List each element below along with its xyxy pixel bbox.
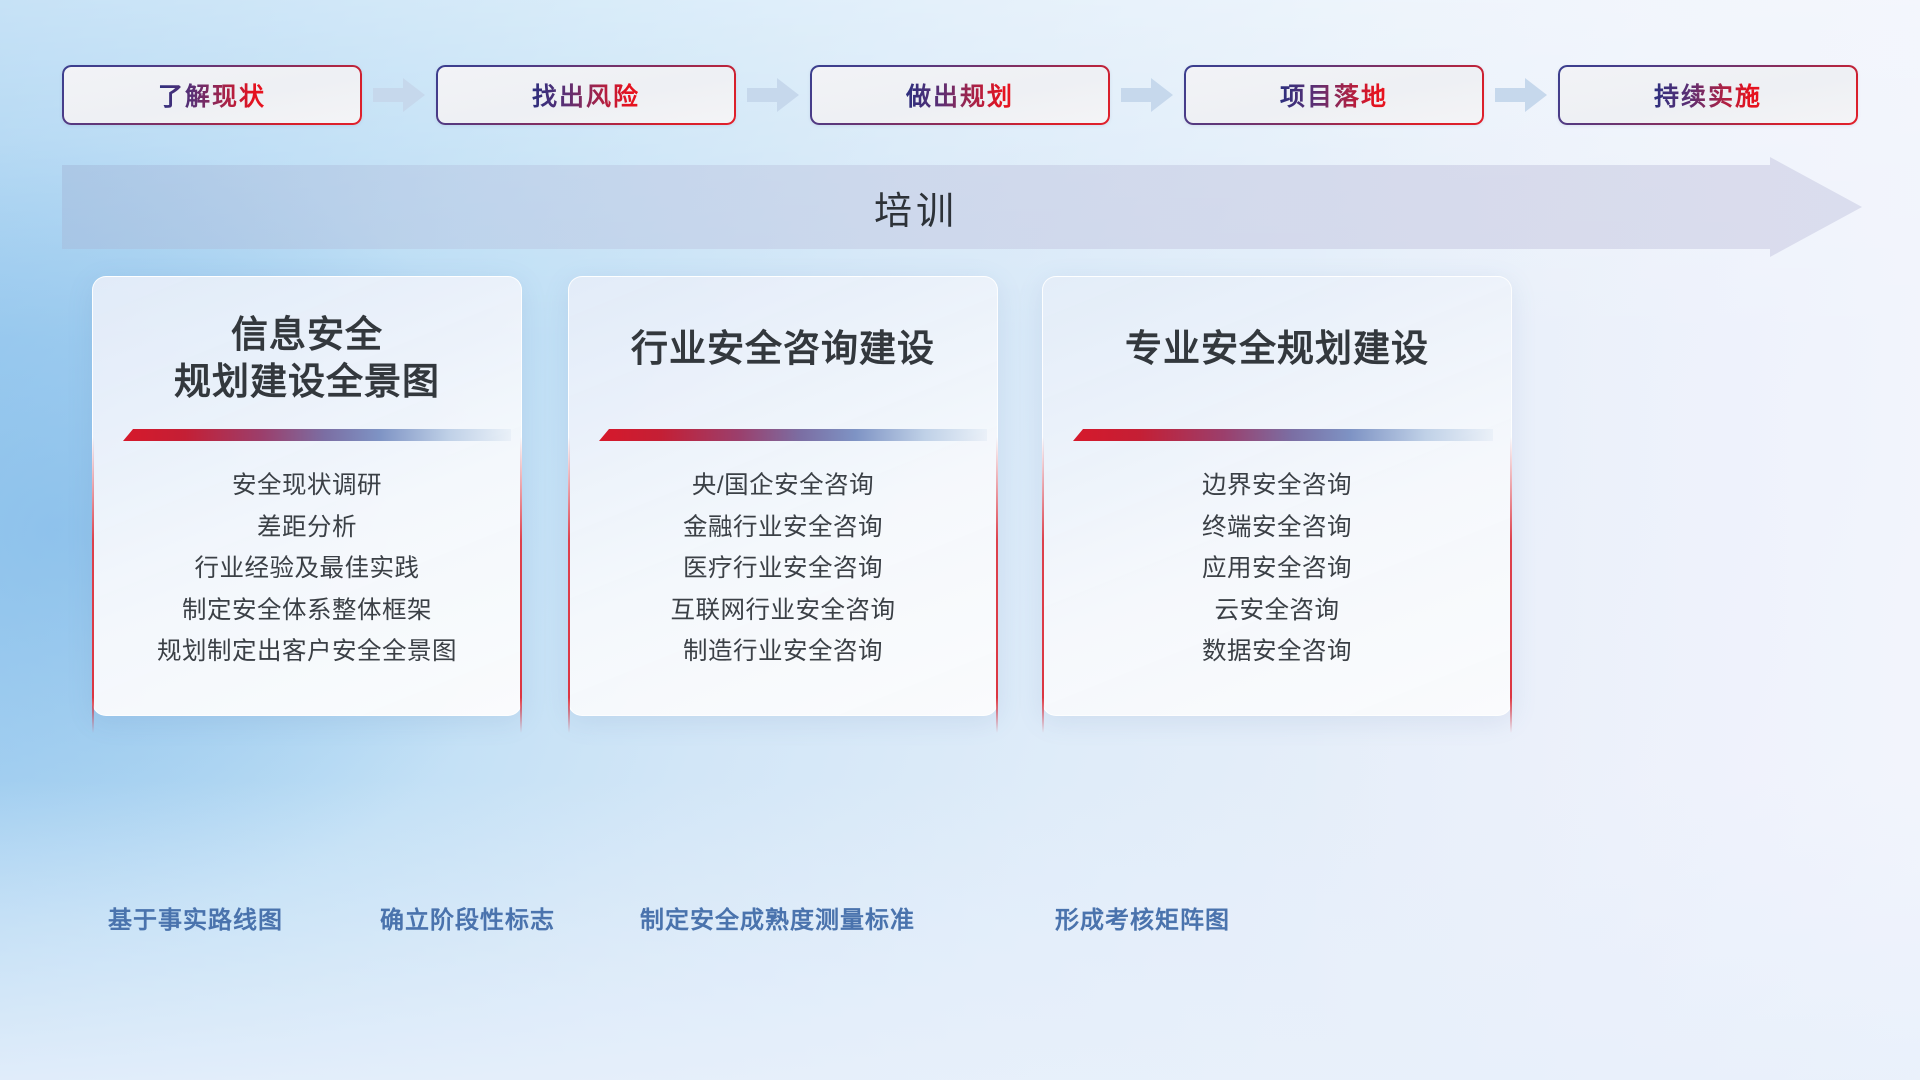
- list-item: 金融行业安全咨询: [569, 507, 997, 549]
- list-item: 制定安全体系整体框架: [93, 590, 521, 632]
- card-title: 信息安全 规划建设全景图: [93, 311, 521, 406]
- list-item: 互联网行业安全咨询: [569, 590, 997, 632]
- list-item: 边界安全咨询: [1043, 465, 1511, 507]
- card-info-security-panorama[interactable]: 信息安全 规划建设全景图 安全现状调研 差距分析 行业经验及最佳实践 制定安全体…: [92, 276, 522, 716]
- list-item: 医疗行业安全咨询: [569, 548, 997, 590]
- step-label: 了解现状: [158, 77, 266, 113]
- arrow-right-icon: [362, 75, 436, 115]
- list-item: 终端安全咨询: [1043, 507, 1511, 549]
- list-item: 安全现状调研: [93, 465, 521, 507]
- arrow-right-icon: [736, 75, 810, 115]
- card-list: 边界安全咨询 终端安全咨询 应用安全咨询 云安全咨询 数据安全咨询: [1043, 465, 1511, 673]
- footer-label-maturity: 制定安全成熟度测量标准: [640, 900, 915, 935]
- card-professional-security-planning[interactable]: 专业安全规划建设 边界安全咨询 终端安全咨询 应用安全咨询 云安全咨询 数据安全…: [1042, 276, 1512, 716]
- footer-label-roadmap: 基于事实路线图: [108, 900, 283, 935]
- card-divider: [123, 429, 511, 441]
- arrow-right-icon: [1484, 75, 1558, 115]
- step-label: 做出规划: [906, 77, 1014, 113]
- card-divider: [599, 429, 987, 441]
- step-label: 持续实施: [1654, 77, 1762, 113]
- step-pill-2[interactable]: 找出风险: [436, 65, 736, 125]
- process-step-row: 了解现状 找出风险 做出规划 项目落地 持续实施: [62, 65, 1858, 125]
- list-item: 规划制定出客户安全全景图: [93, 631, 521, 673]
- card-title: 行业安全咨询建设: [569, 325, 997, 372]
- card-list: 安全现状调研 差距分析 行业经验及最佳实践 制定安全体系整体框架 规划制定出客户…: [93, 465, 521, 673]
- list-item: 数据安全咨询: [1043, 631, 1511, 673]
- list-item: 云安全咨询: [1043, 590, 1511, 632]
- card-list: 央/国企安全咨询 金融行业安全咨询 医疗行业安全咨询 互联网行业安全咨询 制造行…: [569, 465, 997, 673]
- list-item: 制造行业安全咨询: [569, 631, 997, 673]
- step-pill-5[interactable]: 持续实施: [1558, 65, 1858, 125]
- step-label: 找出风险: [532, 77, 640, 113]
- card-industry-security-consulting[interactable]: 行业安全咨询建设 央/国企安全咨询 金融行业安全咨询 医疗行业安全咨询 互联网行…: [568, 276, 998, 716]
- footer-label-row: 基于事实路线图 确立阶段性标志 制定安全成熟度测量标准 形成考核矩阵图: [0, 900, 1920, 940]
- footer-label-milestone: 确立阶段性标志: [380, 900, 555, 935]
- list-item: 差距分析: [93, 507, 521, 549]
- list-item: 应用安全咨询: [1043, 548, 1511, 590]
- card-title: 专业安全规划建设: [1043, 325, 1511, 372]
- arrow-right-icon: [1110, 75, 1184, 115]
- banner-title: 培训: [62, 157, 1770, 257]
- step-pill-1[interactable]: 了解现状: [62, 65, 362, 125]
- footer-label-matrix: 形成考核矩阵图: [1055, 900, 1230, 935]
- step-label: 项目落地: [1280, 77, 1388, 113]
- card-divider: [1073, 429, 1493, 441]
- list-item: 央/国企安全咨询: [569, 465, 997, 507]
- step-pill-4[interactable]: 项目落地: [1184, 65, 1484, 125]
- list-item: 行业经验及最佳实践: [93, 548, 521, 590]
- step-pill-3[interactable]: 做出规划: [810, 65, 1110, 125]
- training-banner: 培训: [62, 157, 1862, 257]
- card-row: 信息安全 规划建设全景图 安全现状调研 差距分析 行业经验及最佳实践 制定安全体…: [0, 276, 1920, 716]
